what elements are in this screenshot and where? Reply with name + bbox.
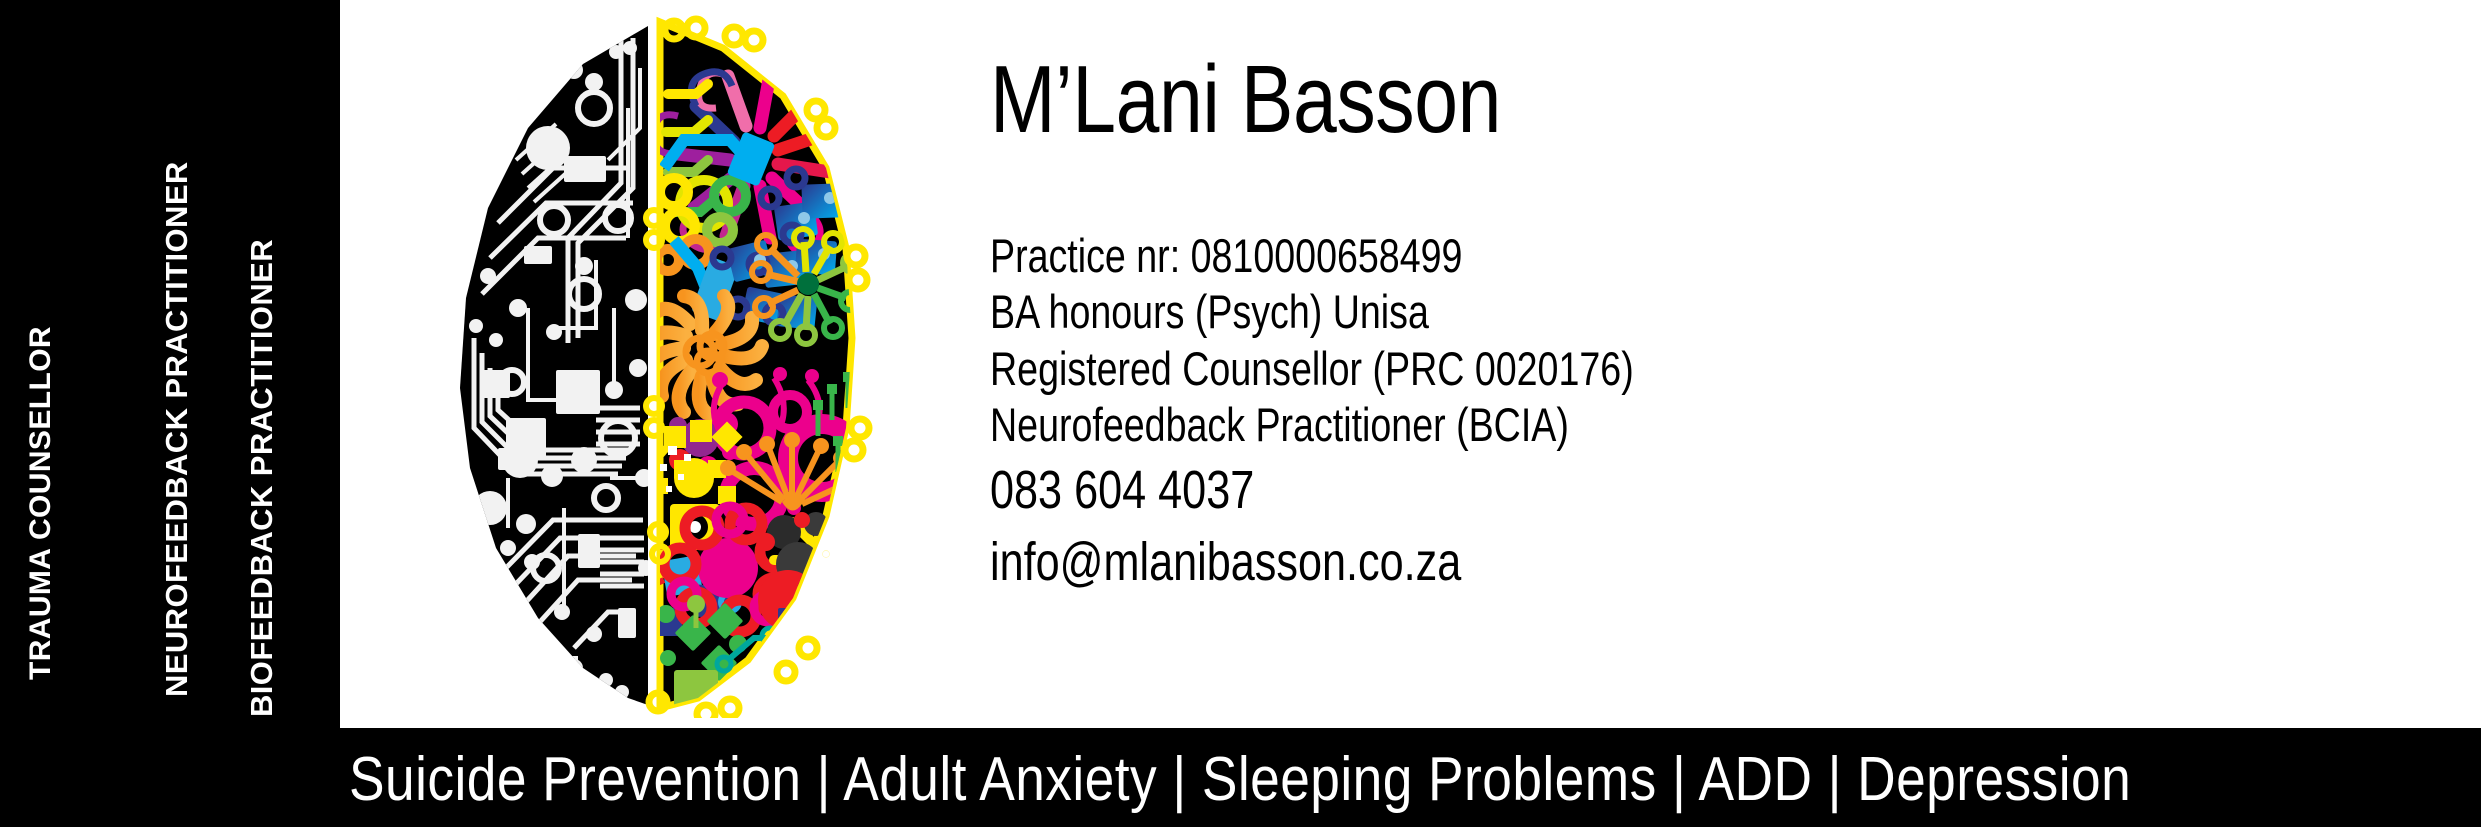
credential-registered-counsellor: Registered Counsellor (PRC 0020176) [990, 341, 2110, 397]
email-address[interactable]: info@mlanibasson.co.za [990, 527, 2110, 599]
wishbone-traces [754, 681, 860, 718]
sidebar-label-trauma-counsellor: TRAUMA COUNSELLOR [26, 326, 56, 680]
specialty-sidebar: TRAUMA COUNSELLOR NEUROFEEDBACK PRACTITI… [0, 0, 340, 735]
right-hemisphere [624, 19, 886, 718]
contact-details: 083 604 4037 info@mlanibasson.co.za [990, 455, 2390, 599]
brain-logo-svg [378, 8, 953, 718]
page-title: M’Lani Basson [990, 52, 1501, 148]
credential-practice-number: Practice nr: 0810000658499 [990, 228, 2110, 284]
sidebar-label-neurofeedback-practitioner: NEUROFEEDBACK PRACTITIONER [161, 161, 192, 697]
credential-degree: BA honours (Psych) Unisa [990, 284, 2110, 340]
contact-info-block: M’Lani Basson Practice nr: 0810000658499… [990, 0, 2450, 735]
credential-neurofeedback: Neurofeedback Practitioner (BCIA) [990, 397, 2110, 453]
credentials-list: Practice nr: 0810000658499 BA honours (P… [990, 228, 2390, 454]
services-banner: Suicide Prevention | Adult Anxiety | Sle… [0, 728, 2481, 827]
business-card: TRAUMA COUNSELLOR NEUROFEEDBACK PRACTITI… [0, 0, 2481, 827]
left-hemisphere [460, 26, 654, 705]
services-banner-text: Suicide Prevention | Adult Anxiety | Sle… [349, 745, 2131, 811]
sidebar-label-biofeedback-practitioner: BIOFEEDBACK PRACTITIONER [246, 239, 277, 717]
phone-number[interactable]: 083 604 4037 [990, 455, 2110, 527]
brain-logo [378, 8, 953, 718]
